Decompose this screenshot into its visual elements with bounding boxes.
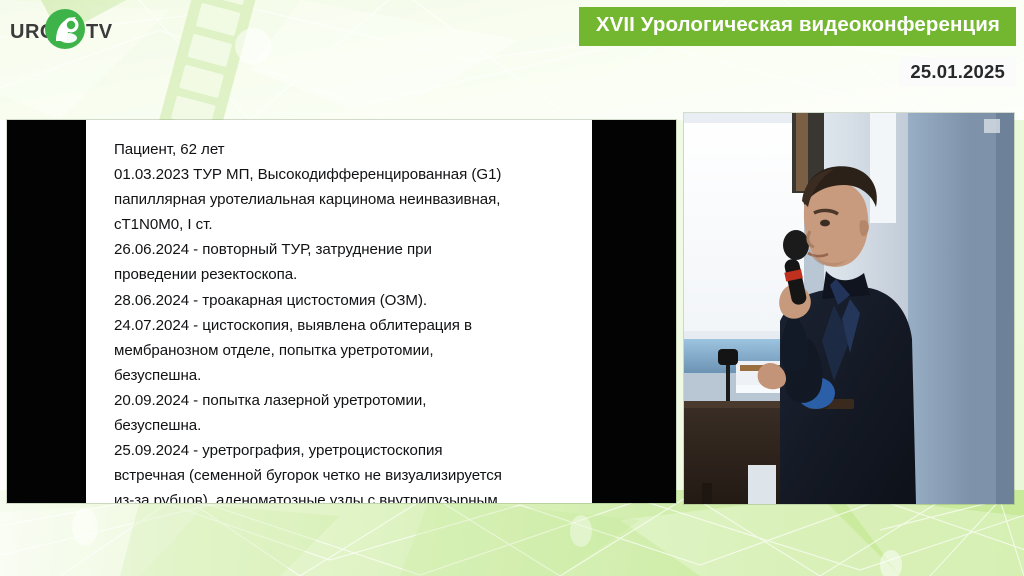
slide-case-history-text: Пациент, 62 лет 01.03.2023 ТУР МП, Высок… [114, 137, 580, 503]
speaker-video-still [684, 113, 1014, 504]
bokeh-circle-bottom-mid [570, 515, 592, 547]
bokeh-circle-bottom-right [880, 550, 902, 576]
urotv-logo[interactable]: URO TV [8, 8, 118, 52]
conference-date-badge: 25.01.2025 [899, 57, 1016, 87]
presentation-slide-panel[interactable]: Пациент, 62 лет 01.03.2023 ТУР МП, Высок… [7, 120, 676, 503]
svg-text:TV: TV [86, 21, 113, 43]
conference-broadcast-frame: URO TV XVII Урологическая видеоконференц… [0, 0, 1024, 576]
slide-letterbox-left [7, 120, 86, 503]
bokeh-circle-bottom-left [72, 508, 98, 546]
speaker-video-panel[interactable] [684, 113, 1014, 504]
slide-letterbox-right [592, 120, 676, 503]
bokeh-circle-top [235, 28, 271, 64]
slide-content: Пациент, 62 лет 01.03.2023 ТУР МП, Высок… [86, 120, 592, 503]
logo-green-circle [45, 9, 85, 49]
conference-title-banner: XVII Урологическая видеоконференция [579, 7, 1016, 46]
